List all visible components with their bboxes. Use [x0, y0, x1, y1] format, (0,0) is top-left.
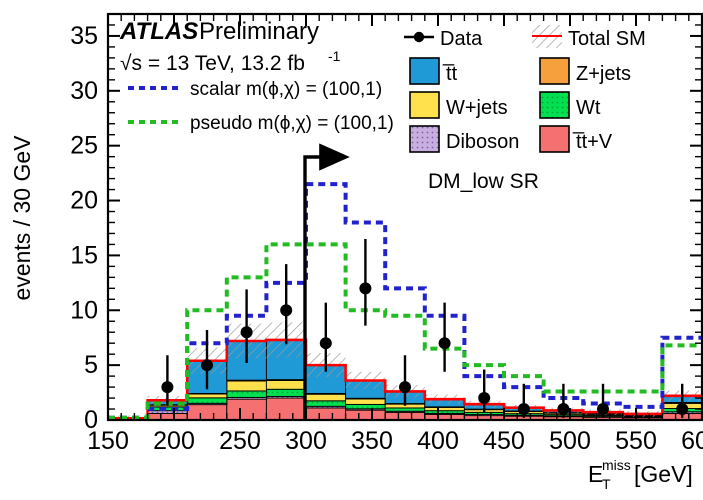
stack-bin-wt [306, 401, 346, 406]
legend-label-ttv: t̅t+V [573, 131, 613, 153]
legend-item-total-sm[interactable]: Total SM [532, 25, 646, 50]
preliminary-label: Preliminary [199, 18, 319, 45]
legend-item-zjets[interactable]: Z+jets [540, 58, 631, 85]
data-marker [320, 337, 332, 349]
y-tick-label: 30 [70, 77, 98, 105]
stack-bin-wjets [187, 394, 227, 398]
y-tick-label: 10 [70, 296, 98, 324]
atlas-label: ATLAS [119, 18, 198, 45]
y-axis-title: events / 30 GeV [9, 135, 35, 301]
region-label: DM_low SR [428, 170, 539, 193]
data-marker [161, 381, 173, 393]
legend-label-total-sm: Total SM [568, 28, 646, 50]
data-legend-marker [414, 32, 424, 42]
legend-item-ttbar[interactable]: t̅t [410, 58, 458, 85]
legend-label-diboson: Diboson [446, 131, 519, 153]
diboson-legend-swatch [410, 126, 439, 152]
data-marker [478, 392, 490, 404]
x-axis-title-sub: T [602, 476, 611, 492]
y-tick-label: 35 [70, 22, 98, 50]
data-marker [399, 381, 411, 393]
stack-bin-ttv [266, 398, 306, 420]
stack-bin-ttv [346, 410, 386, 420]
lumi-exponent: -1 [328, 48, 341, 64]
x-tick-label: 150 [87, 427, 129, 455]
scalar-legend-label: scalar m(ϕ,χ) = (100,1) [190, 79, 382, 100]
stack-bin-wjets [266, 380, 306, 389]
y-tick-label: 5 [84, 351, 98, 379]
legend-label-wt: Wt [576, 97, 601, 119]
zjets-legend-swatch [540, 58, 569, 84]
y-tick-label: 20 [70, 187, 98, 215]
stack-bin-wt [385, 408, 425, 411]
x-tick-label: 450 [483, 427, 525, 455]
x-axis-title: E miss T [GeV] [588, 457, 693, 492]
stack-bin-ttv [187, 405, 227, 420]
atlas-figure: 0510152025303515020025030035040045050055… [0, 0, 703, 500]
plot-canvas: 0510152025303515020025030035040045050055… [0, 0, 703, 500]
x-tick-label: 250 [219, 427, 261, 455]
x-tick-label: 350 [351, 427, 393, 455]
x-tick-label: 600 [681, 427, 703, 455]
data-marker [201, 359, 213, 371]
stack-bin-wjets [346, 399, 386, 404]
wjets-legend-swatch [410, 92, 439, 118]
data-marker [280, 304, 292, 316]
data-marker [518, 403, 530, 415]
data-marker [359, 282, 371, 294]
x-tick-label: 500 [549, 427, 591, 455]
x-tick-label: 550 [615, 427, 657, 455]
stack-bin-wjets [306, 394, 346, 401]
data-marker [557, 403, 569, 415]
y-tick-label: 25 [70, 132, 98, 160]
data-marker [439, 337, 451, 349]
legend-label-wjets: W+jets [446, 97, 508, 119]
x-tick-label: 200 [153, 427, 195, 455]
x-axis-title-sup: miss [602, 457, 631, 473]
x-tick-label: 300 [285, 427, 327, 455]
stack-bin-ttv [385, 412, 425, 420]
pseudo-legend-label: pseudo m(ϕ,χ) = (100,1) [190, 113, 394, 134]
data-marker [676, 403, 688, 415]
wt-legend-swatch [540, 92, 569, 118]
x-axis-title-unit: [GeV] [634, 461, 693, 487]
y-tick-label: 15 [70, 241, 98, 269]
lumi-label: √s = 13 TeV, 13.2 fb [120, 52, 305, 75]
stack-bin-wt [227, 391, 267, 398]
legend-item-ttv[interactable]: t̅t+V [540, 126, 613, 153]
data-marker [241, 326, 253, 338]
legend-item-wjets[interactable]: W+jets [410, 92, 508, 119]
legend-label-zjets: Z+jets [576, 63, 631, 85]
legend-item-diboson[interactable]: Diboson [410, 126, 519, 153]
ttbar-legend-swatch [410, 58, 439, 84]
data-marker [597, 403, 609, 415]
stack-bin-wt [266, 389, 306, 396]
x-tick-label: 400 [417, 427, 459, 455]
stack-bin-ttv [306, 408, 346, 420]
ttv-legend-swatch [540, 126, 569, 152]
stack-bin-wt [346, 404, 386, 408]
stack-bin-ttv [227, 399, 267, 420]
stack-bin-wjets [227, 381, 267, 391]
stack-bin-wt [187, 398, 227, 403]
legend-label-data: Data [440, 28, 483, 50]
